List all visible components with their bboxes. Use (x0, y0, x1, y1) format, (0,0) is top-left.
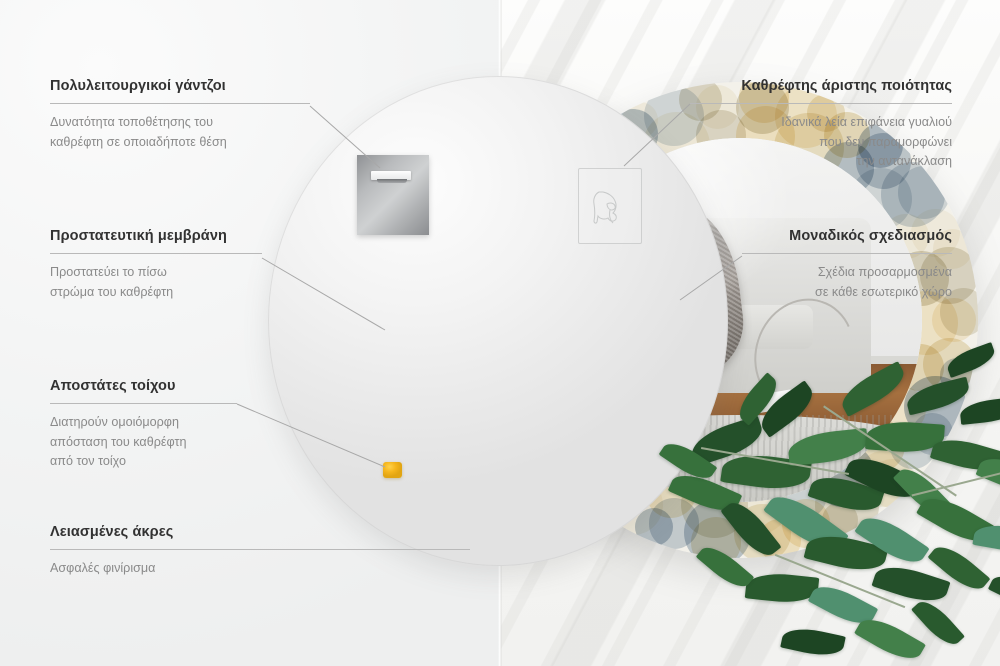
leader-membrane (262, 258, 385, 330)
leader-design (680, 256, 742, 300)
callout-quality-mirror-rule (690, 103, 952, 104)
callout-quality-mirror: Καθρέφτης άριστης ποιότητας Ιδανικά λεία… (690, 78, 952, 171)
callout-membrane-title: Προστατευτική μεμβράνη (50, 228, 262, 245)
callout-quality-mirror-title: Καθρέφτης άριστης ποιότητας (690, 78, 952, 95)
callout-spacers-rule (50, 403, 237, 404)
callout-membrane-desc: Προστατεύει το πίσω στρώμα του καθρέφτη (50, 263, 262, 301)
callout-unique-design-title: Μοναδικός σχεδιασμός (742, 228, 952, 245)
callout-spacers: Αποστάτες τοίχου Διατηρούν ομοιόμορφη απ… (50, 378, 237, 471)
callout-edges-title: Λειασμένες άκρες (50, 524, 470, 541)
callout-spacers-title: Αποστάτες τοίχου (50, 378, 237, 395)
callout-hooks-rule (50, 103, 310, 104)
callout-spacers-desc: Διατηρούν ομοιόμορφη απόσταση του καθρέφ… (50, 413, 237, 470)
callout-unique-design-rule (742, 253, 952, 254)
callout-hooks-title: Πολυλειτουργικοί γάντζοι (50, 78, 310, 95)
leader-spacers (237, 404, 385, 467)
callout-edges: Λειασμένες άκρες Ασφαλές φινίρισμα (50, 524, 470, 579)
callout-unique-design-desc: Σχέδια προσαρμοσμένα σε κάθε εσωτερικό χ… (742, 263, 952, 301)
callout-edges-desc: Ασφαλές φινίρισμα (50, 559, 470, 578)
callout-hooks: Πολυλειτουργικοί γάντζοι Δυνατότητα τοπο… (50, 78, 310, 152)
callout-hooks-desc: Δυνατότητα τοποθέτησης του καθρέφτη σε ο… (50, 113, 310, 151)
callout-membrane: Προστατευτική μεμβράνη Προστατεύει το πί… (50, 228, 262, 302)
leader-quality (624, 104, 690, 166)
callout-membrane-rule (50, 253, 262, 254)
infographic-stage: Πολυλειτουργικοί γάντζοι Δυνατότητα τοπο… (0, 0, 1000, 666)
callout-quality-mirror-desc: Ιδανικά λεία επιφάνεια γυαλιού που δεν π… (690, 113, 952, 170)
leader-hooks (310, 106, 380, 168)
callout-unique-design: Μοναδικός σχεδιασμός Σχέδια προσαρμοσμέν… (742, 228, 952, 302)
callout-edges-rule (50, 549, 470, 550)
